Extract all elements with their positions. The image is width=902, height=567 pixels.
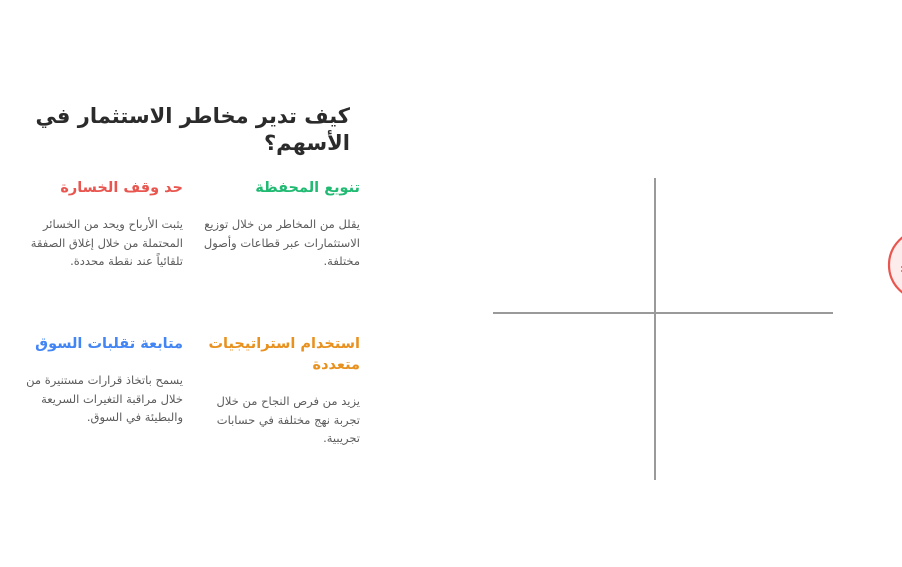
- divider-horizontal: [47, 312, 387, 314]
- icon-badge-car-shield: [443, 230, 513, 300]
- wrench-screwdriver-icon-circle: [681, 214, 751, 284]
- icon-badge-tools: [681, 214, 751, 284]
- text-panel: كيف تدير مخاطر الاستثمار في الأسهم؟ حد و…: [0, 0, 420, 567]
- divider-vertical: [208, 178, 210, 480]
- road-stem-green: [548, 196, 584, 518]
- infographic-canvas: كيف تدير مخاطر الاستثمار في الأسهم؟ حد و…: [0, 0, 902, 567]
- roads-svg: [420, 0, 902, 567]
- roads-illustration: [420, 0, 902, 567]
- icon-badge-declining-chart: [607, 317, 677, 387]
- icon-badge-pie-chart: [531, 172, 601, 242]
